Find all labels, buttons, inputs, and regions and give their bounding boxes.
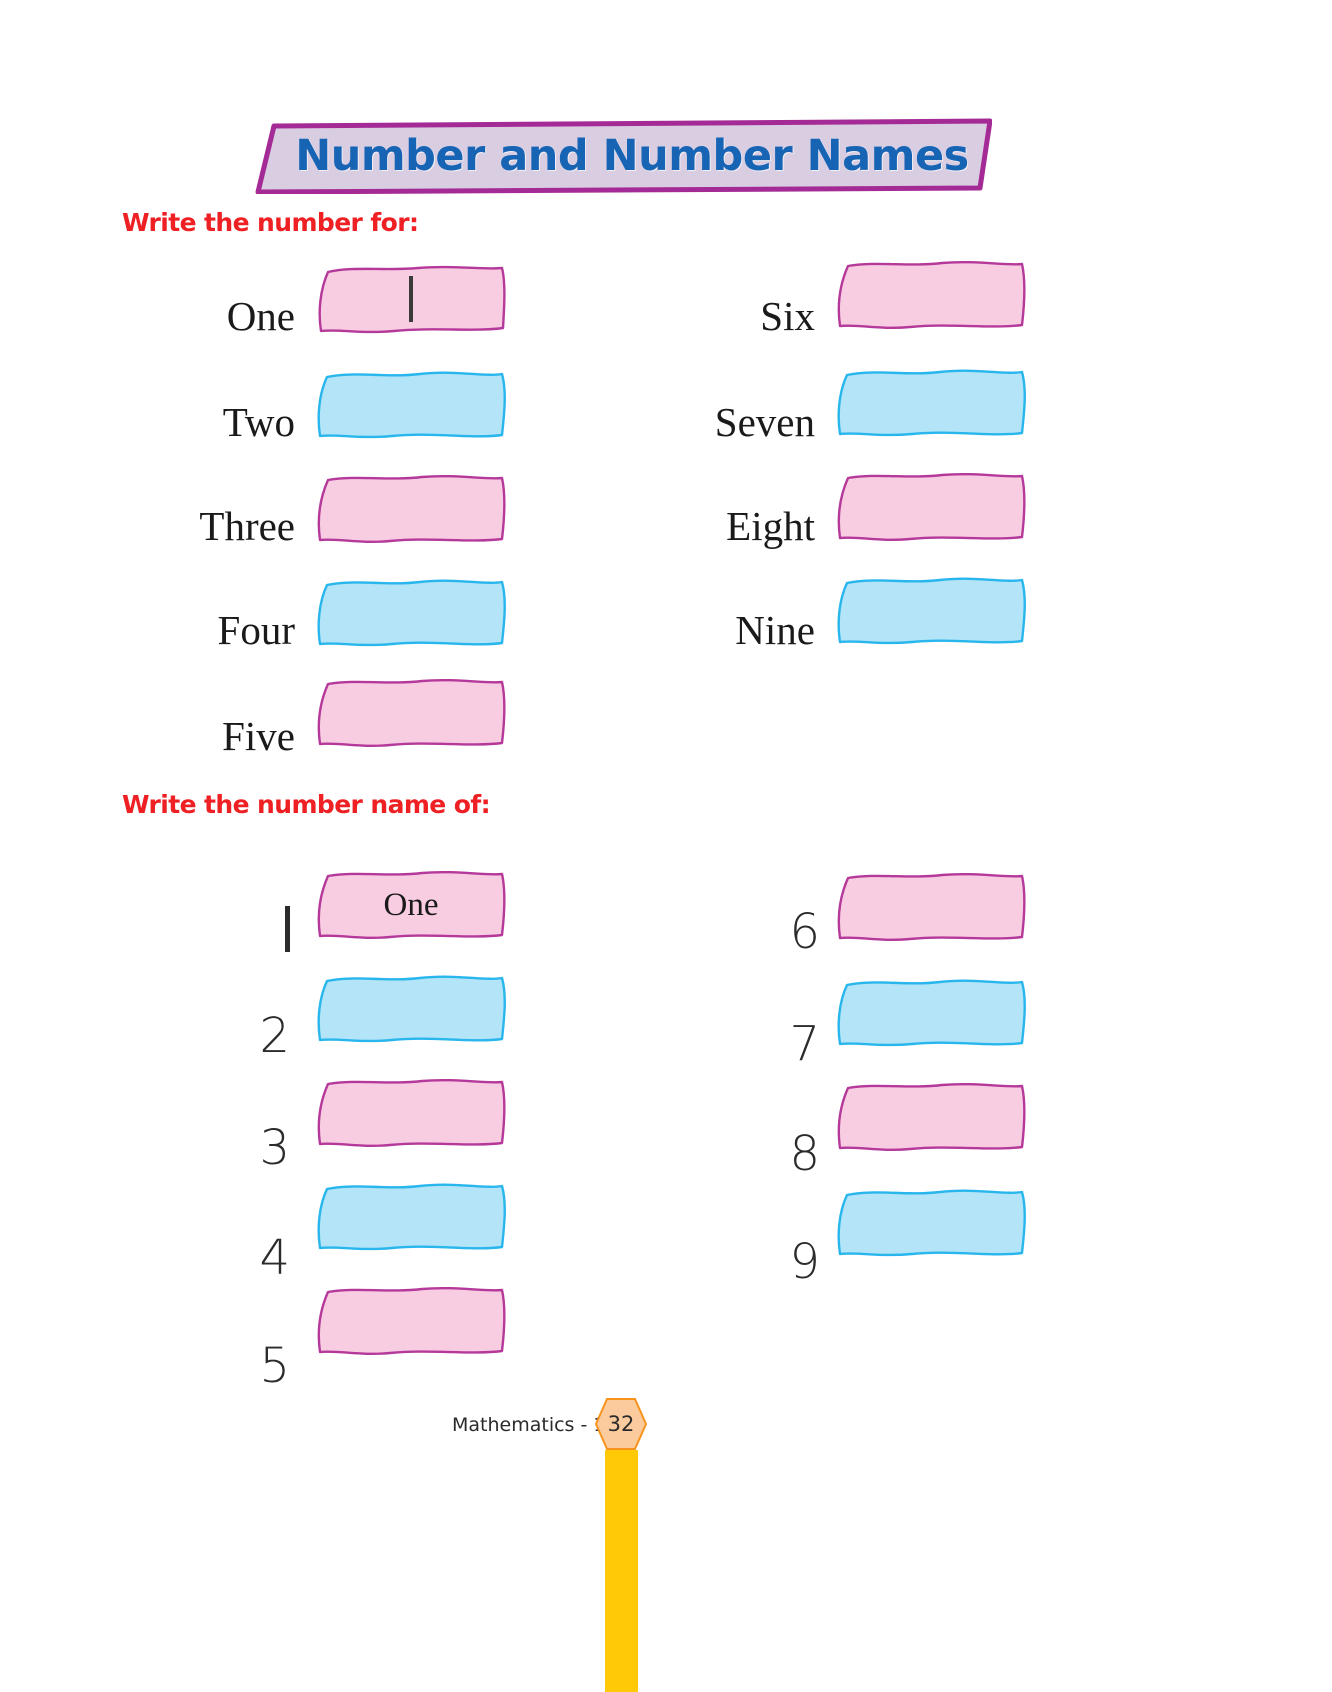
answer-box-four[interactable] xyxy=(314,576,508,650)
instruction-write-number-for: Write the number for: xyxy=(122,208,418,237)
label-six: Six xyxy=(760,292,815,340)
answer-box-one[interactable] xyxy=(314,262,508,336)
answer-digit-8 xyxy=(834,1080,1028,1154)
answer-box-seven[interactable] xyxy=(834,366,1028,440)
footer-yellow-bar xyxy=(605,1450,638,1692)
row-digit-9: 9 xyxy=(750,1206,820,1280)
page-title-banner: Number and Number Names xyxy=(252,118,992,194)
answer-box-nine[interactable] xyxy=(834,574,1028,648)
row-digit-8: 8 xyxy=(750,1098,820,1172)
row-label-eight: Eight xyxy=(660,472,815,546)
footer-book-label: Mathematics - 1 xyxy=(452,1414,605,1436)
page-number: 32 xyxy=(594,1396,648,1452)
digit-6: 6 xyxy=(789,904,820,960)
answer-box-digit-7[interactable] xyxy=(834,976,1028,1050)
label-two: Two xyxy=(223,398,295,446)
answer-box-digit-2[interactable] xyxy=(314,972,508,1046)
box-outline-pink xyxy=(834,470,1028,544)
instruction-write-number-name-of: Write the number name of: xyxy=(122,790,490,819)
answer-digit-6 xyxy=(834,870,1028,944)
label-four: Four xyxy=(218,606,295,654)
answer-box-three[interactable] xyxy=(314,472,508,546)
answer-digit-5 xyxy=(314,1284,508,1358)
label-seven: Seven xyxy=(715,398,815,446)
answer-box-digit-6[interactable] xyxy=(834,870,1028,944)
answer-box-eight[interactable] xyxy=(834,470,1028,544)
label-nine: Nine xyxy=(735,606,815,654)
row-digit-6: 6 xyxy=(750,876,820,950)
page-number-hexagon: 32 xyxy=(594,1396,648,1452)
digit-1 xyxy=(285,900,290,956)
digit-5: 5 xyxy=(259,1338,290,1394)
row-label-three: Three xyxy=(150,472,295,546)
row-label-four: Four xyxy=(150,576,295,650)
row-label-seven: Seven xyxy=(660,368,815,442)
answer-digit-2 xyxy=(314,972,508,1046)
row-digit-4: 4 xyxy=(220,1202,290,1276)
answer-digit-4 xyxy=(314,1180,508,1254)
answer-box-digit-1[interactable]: One xyxy=(314,868,508,942)
row-label-two: Two xyxy=(150,368,295,442)
answer-digit-9 xyxy=(834,1186,1028,1260)
box-outline-pink xyxy=(314,472,508,546)
digit-8: 8 xyxy=(789,1126,820,1182)
row-label-nine: Nine xyxy=(660,576,815,650)
digit-3: 3 xyxy=(259,1120,290,1176)
row-label-six: Six xyxy=(660,262,815,336)
answer-box-six[interactable] xyxy=(834,258,1028,332)
box-outline-blue xyxy=(834,366,1028,440)
answer-box-digit-5[interactable] xyxy=(314,1284,508,1358)
answer-digit-3 xyxy=(314,1076,508,1150)
digit-2: 2 xyxy=(259,1008,290,1064)
box-outline-blue xyxy=(314,368,508,442)
row-digit-5: 5 xyxy=(220,1310,290,1384)
box-outline-blue xyxy=(834,574,1028,648)
row-digit-2: 2 xyxy=(220,980,290,1054)
answer-box-digit-4[interactable] xyxy=(314,1180,508,1254)
label-one: One xyxy=(227,292,295,340)
answer-box-digit-3[interactable] xyxy=(314,1076,508,1150)
box-outline-pink xyxy=(834,258,1028,332)
answer-digit-7 xyxy=(834,976,1028,1050)
box-outline-blue xyxy=(314,576,508,650)
answer-box-two[interactable] xyxy=(314,368,508,442)
label-three: Three xyxy=(199,502,295,550)
digit-9: 9 xyxy=(789,1234,820,1290)
label-five: Five xyxy=(222,712,295,760)
box-outline-pink xyxy=(314,676,508,750)
digit-4: 4 xyxy=(259,1230,290,1286)
page-title: Number and Number Names xyxy=(282,118,982,194)
answer-box-digit-9[interactable] xyxy=(834,1186,1028,1260)
row-digit-7: 7 xyxy=(750,988,820,1062)
row-label-one: One xyxy=(150,262,295,336)
answer-box-five[interactable] xyxy=(314,676,508,750)
answer-digit-1: One xyxy=(314,868,508,942)
handwritten-one xyxy=(409,276,413,322)
row-label-five: Five xyxy=(150,682,295,756)
row-digit-3: 3 xyxy=(220,1092,290,1166)
row-digit-1 xyxy=(220,872,290,946)
digit-7: 7 xyxy=(789,1016,820,1072)
answer-box-digit-8[interactable] xyxy=(834,1080,1028,1154)
label-eight: Eight xyxy=(726,502,815,550)
